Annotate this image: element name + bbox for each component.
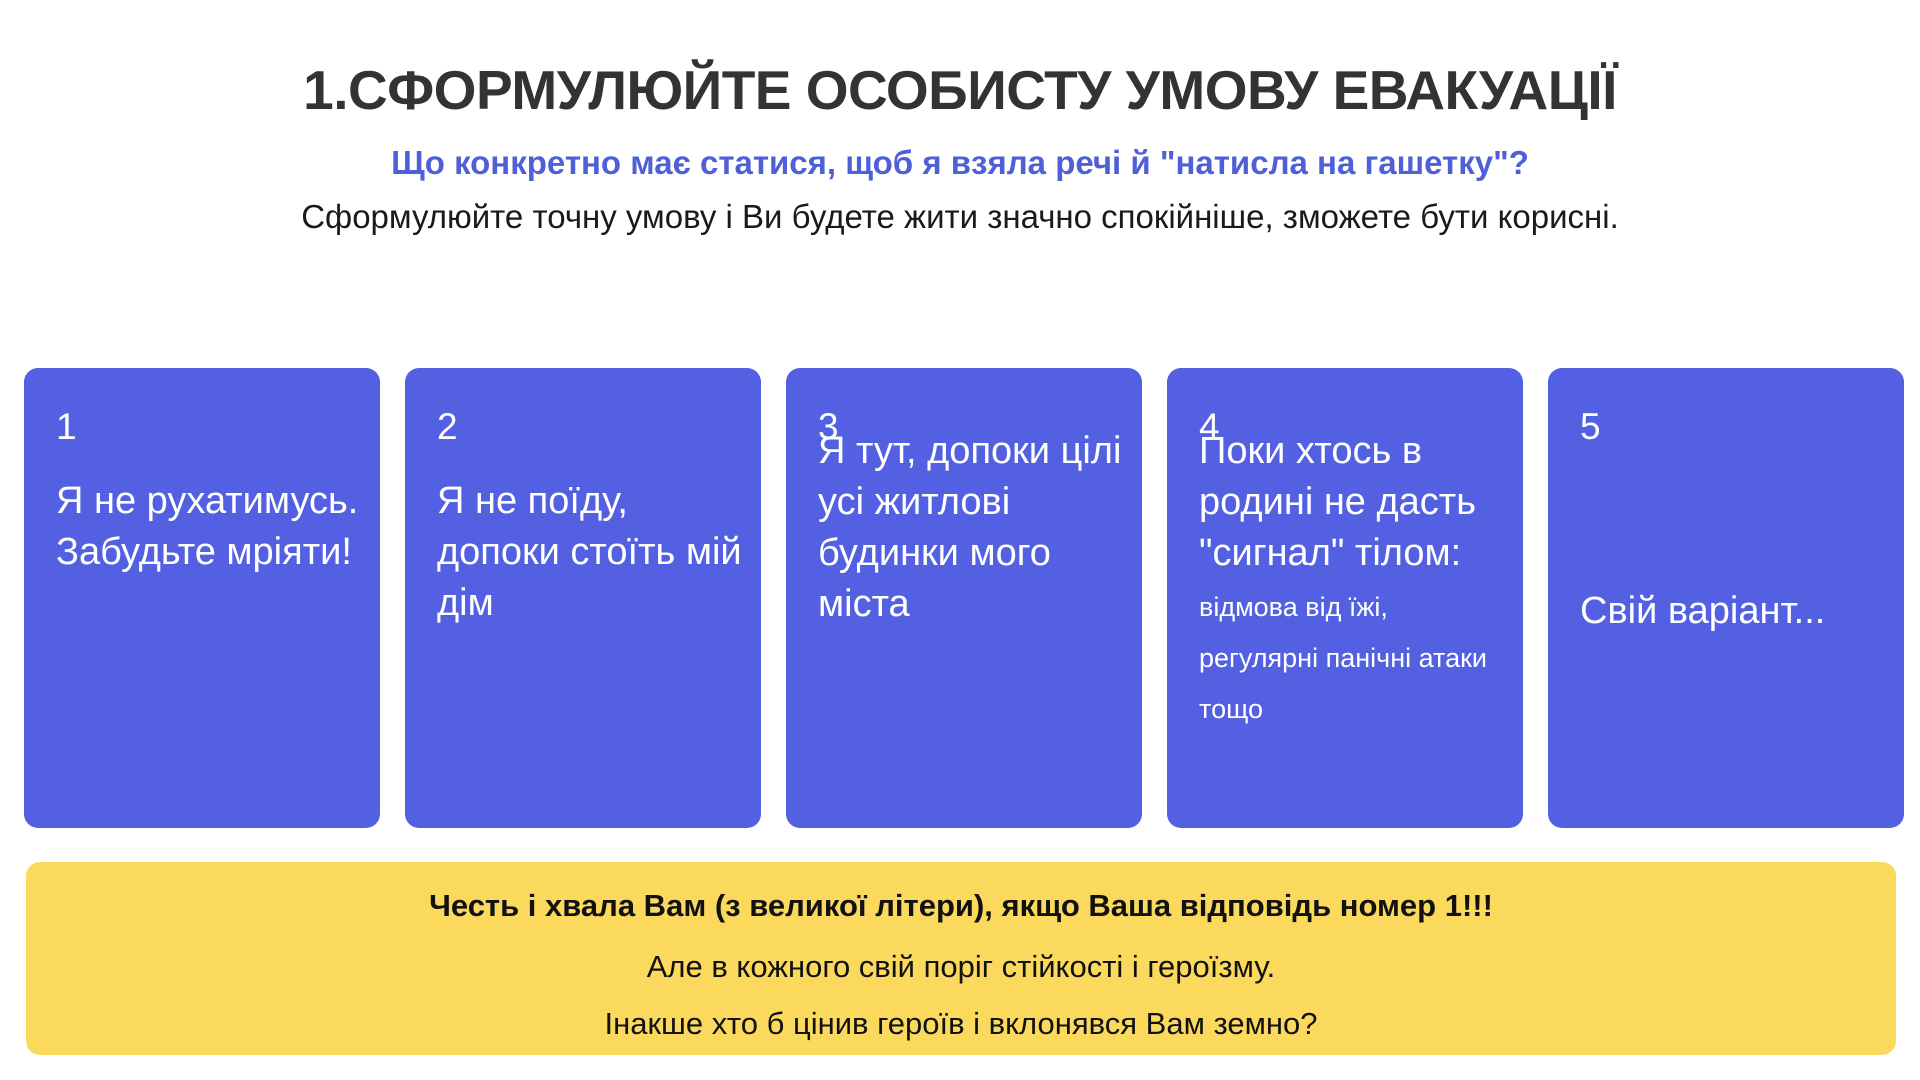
callout-line-3: Інакше хто б цінив героїв і вклонявся Ва… <box>26 1008 1896 1065</box>
option-card-text: Я не поїду, допоки стоїть мій дім <box>437 480 742 624</box>
option-card-text: Поки хтось в родині не дасть "сигнал" ті… <box>1199 430 1476 574</box>
option-card-body: Свій варіант... <box>1580 586 1890 637</box>
callout-line-2: Але в кожного свій поріг стійкості і гер… <box>26 951 1896 1008</box>
option-card-text: Свій варіант... <box>1580 590 1825 632</box>
option-card-text: Я тут, допоки цілі усі житлові будинки м… <box>818 430 1121 625</box>
option-card-note: відмова від їжі, регулярні панічні атаки… <box>1199 592 1487 724</box>
slide-subtitle: Що конкретно має статися, щоб я взяла ре… <box>0 119 1920 183</box>
option-card-4[interactable]: 4 Поки хтось в родині не дасть "сигнал" … <box>1167 368 1523 828</box>
slide-header: 1.СФОРМУЛЮЙТЕ ОСОБИСТУ УМОВУ ЕВАКУАЦІЇ Щ… <box>0 0 1920 236</box>
option-card-2[interactable]: 2 Я не поїду, допоки стоїть мій дім <box>405 368 761 828</box>
option-card-body: Поки хтось в родині не дасть "сигнал" ті… <box>1199 426 1509 731</box>
option-card-5[interactable]: 5 Свій варіант... <box>1548 368 1904 828</box>
option-card-body: Я не поїду, допоки стоїть мій дім <box>437 476 747 629</box>
option-card-body: Я тут, допоки цілі усі житлові будинки м… <box>818 426 1128 630</box>
option-card-body: Я не рухатимусь. Забудьте мріяти! <box>56 476 366 578</box>
callout-headline: Честь і хвала Вам (з великої літери), як… <box>26 890 1896 951</box>
page-title: 1.СФОРМУЛЮЙТЕ ОСОБИСТУ УМОВУ ЕВАКУАЦІЇ <box>0 0 1920 119</box>
option-card-number: 1 <box>56 408 77 445</box>
option-card-text: Я не рухатимусь. Забудьте мріяти! <box>56 480 358 573</box>
option-card-3[interactable]: 3 Я тут, допоки цілі усі житлові будинки… <box>786 368 1142 828</box>
slide-root: 1.СФОРМУЛЮЙТЕ ОСОБИСТУ УМОВУ ЕВАКУАЦІЇ Щ… <box>0 0 1920 1080</box>
slide-lead-text: Сформулюйте точну умову і Ви будете жити… <box>0 183 1920 237</box>
callout-box: Честь і хвала Вам (з великої літери), як… <box>26 862 1896 1055</box>
option-card-number: 2 <box>437 408 458 445</box>
option-cards-row: 1 Я не рухатимусь. Забудьте мріяти! 2 Я … <box>24 368 1920 828</box>
option-card-number: 5 <box>1580 408 1601 445</box>
option-card-1[interactable]: 1 Я не рухатимусь. Забудьте мріяти! <box>24 368 380 828</box>
